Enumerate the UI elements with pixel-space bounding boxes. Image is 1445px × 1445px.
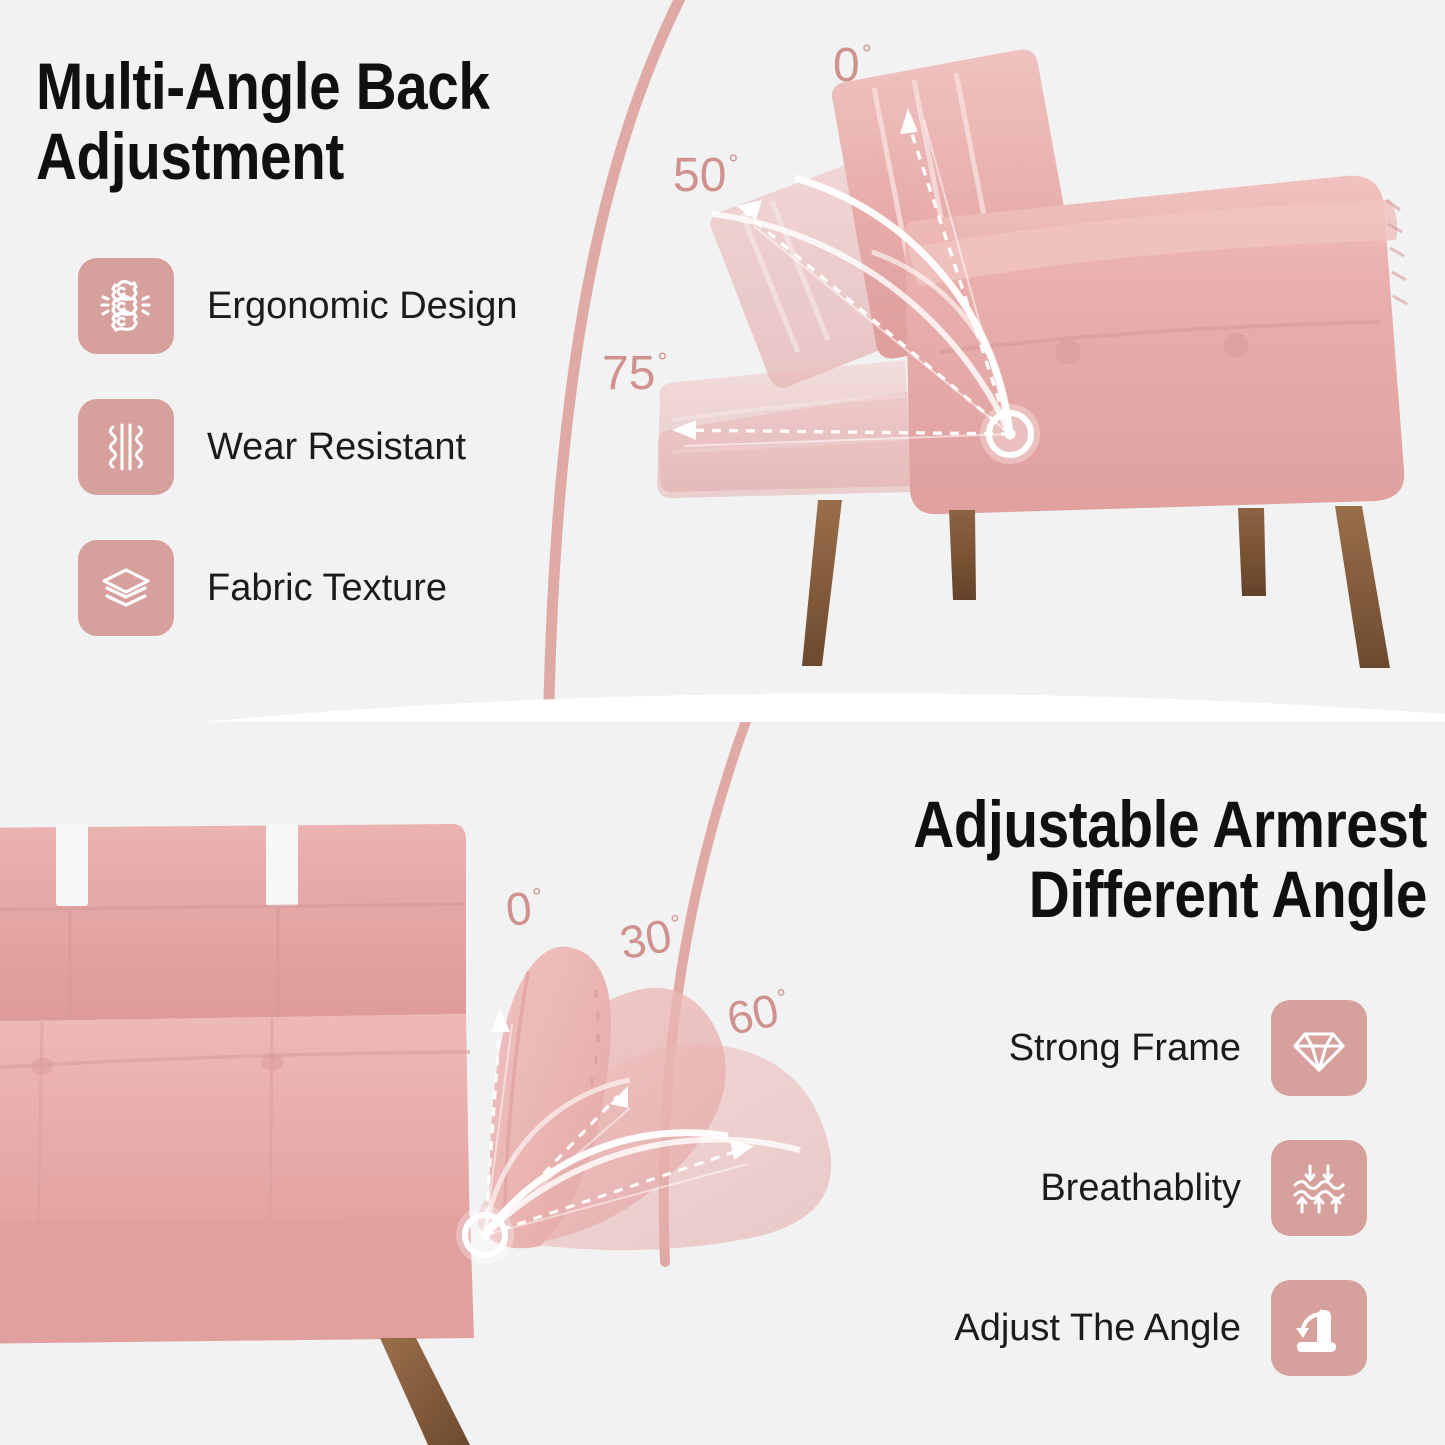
tufting-button [31, 1057, 53, 1075]
feature-list-top: Ergonomic Design Wear Resistant [78, 258, 517, 636]
feature-label: Ergonomic Design [207, 285, 517, 328]
tufting-button [1223, 333, 1249, 357]
leg-mid [949, 510, 976, 600]
sofa-leg [380, 1338, 470, 1445]
feature-label: Adjust The Angle [954, 1307, 1241, 1350]
tufting-button [261, 1053, 283, 1071]
angle-label-50: 50° [673, 152, 738, 200]
wavy-lines-icon [78, 399, 174, 495]
feature-wear-resistant: Wear Resistant [78, 399, 517, 495]
angle-label-0: 0° [833, 42, 872, 90]
sofa-seat-body [904, 176, 1407, 515]
feature-label: Breathablity [1040, 1167, 1241, 1210]
infographic-canvas: Multi-Angle Back Adjustment E [0, 0, 1445, 1445]
spine-icon [78, 258, 174, 354]
diamond-icon [1271, 1000, 1367, 1096]
feature-label: Strong Frame [1009, 1027, 1241, 1070]
feature-breathablity: Breathablity [1040, 1140, 1367, 1236]
tufting-button [1055, 340, 1081, 364]
page-title-bottom: Adjustable Armrest Different Angle [842, 790, 1427, 930]
page-title-top: Multi-Angle Back Adjustment [36, 52, 552, 192]
pivot-center-dot [480, 1230, 490, 1240]
feature-list-bottom: Strong Frame Breathablity [954, 1000, 1367, 1376]
leg-mid-2 [1238, 508, 1266, 596]
backrest-strap [56, 824, 88, 906]
feature-label: Fabric Texture [207, 567, 447, 610]
feature-label: Wear Resistant [207, 426, 466, 469]
feature-ergonomic-design: Ergonomic Design [78, 258, 517, 354]
feature-adjust-the-angle: Adjust The Angle [954, 1280, 1367, 1376]
feature-strong-frame: Strong Frame [1009, 1000, 1367, 1096]
backrest-strap [266, 824, 298, 906]
breathability-icon [1271, 1140, 1367, 1236]
pivot-center-dot [1005, 429, 1016, 440]
layers-icon [78, 540, 174, 636]
seat-rotate-icon [1271, 1280, 1367, 1376]
sofa-seat-cushion [0, 1014, 470, 1252]
sofa-backrest [0, 824, 466, 1022]
angle-label-0: 0° [504, 883, 546, 933]
feature-fabric-texture: Fabric Texture [78, 540, 517, 636]
angle-label-75: 75° [602, 350, 667, 398]
sofa-base [0, 1216, 474, 1344]
panel-multi-angle-back-adjustment: Multi-Angle Back Adjustment E [0, 0, 1445, 722]
